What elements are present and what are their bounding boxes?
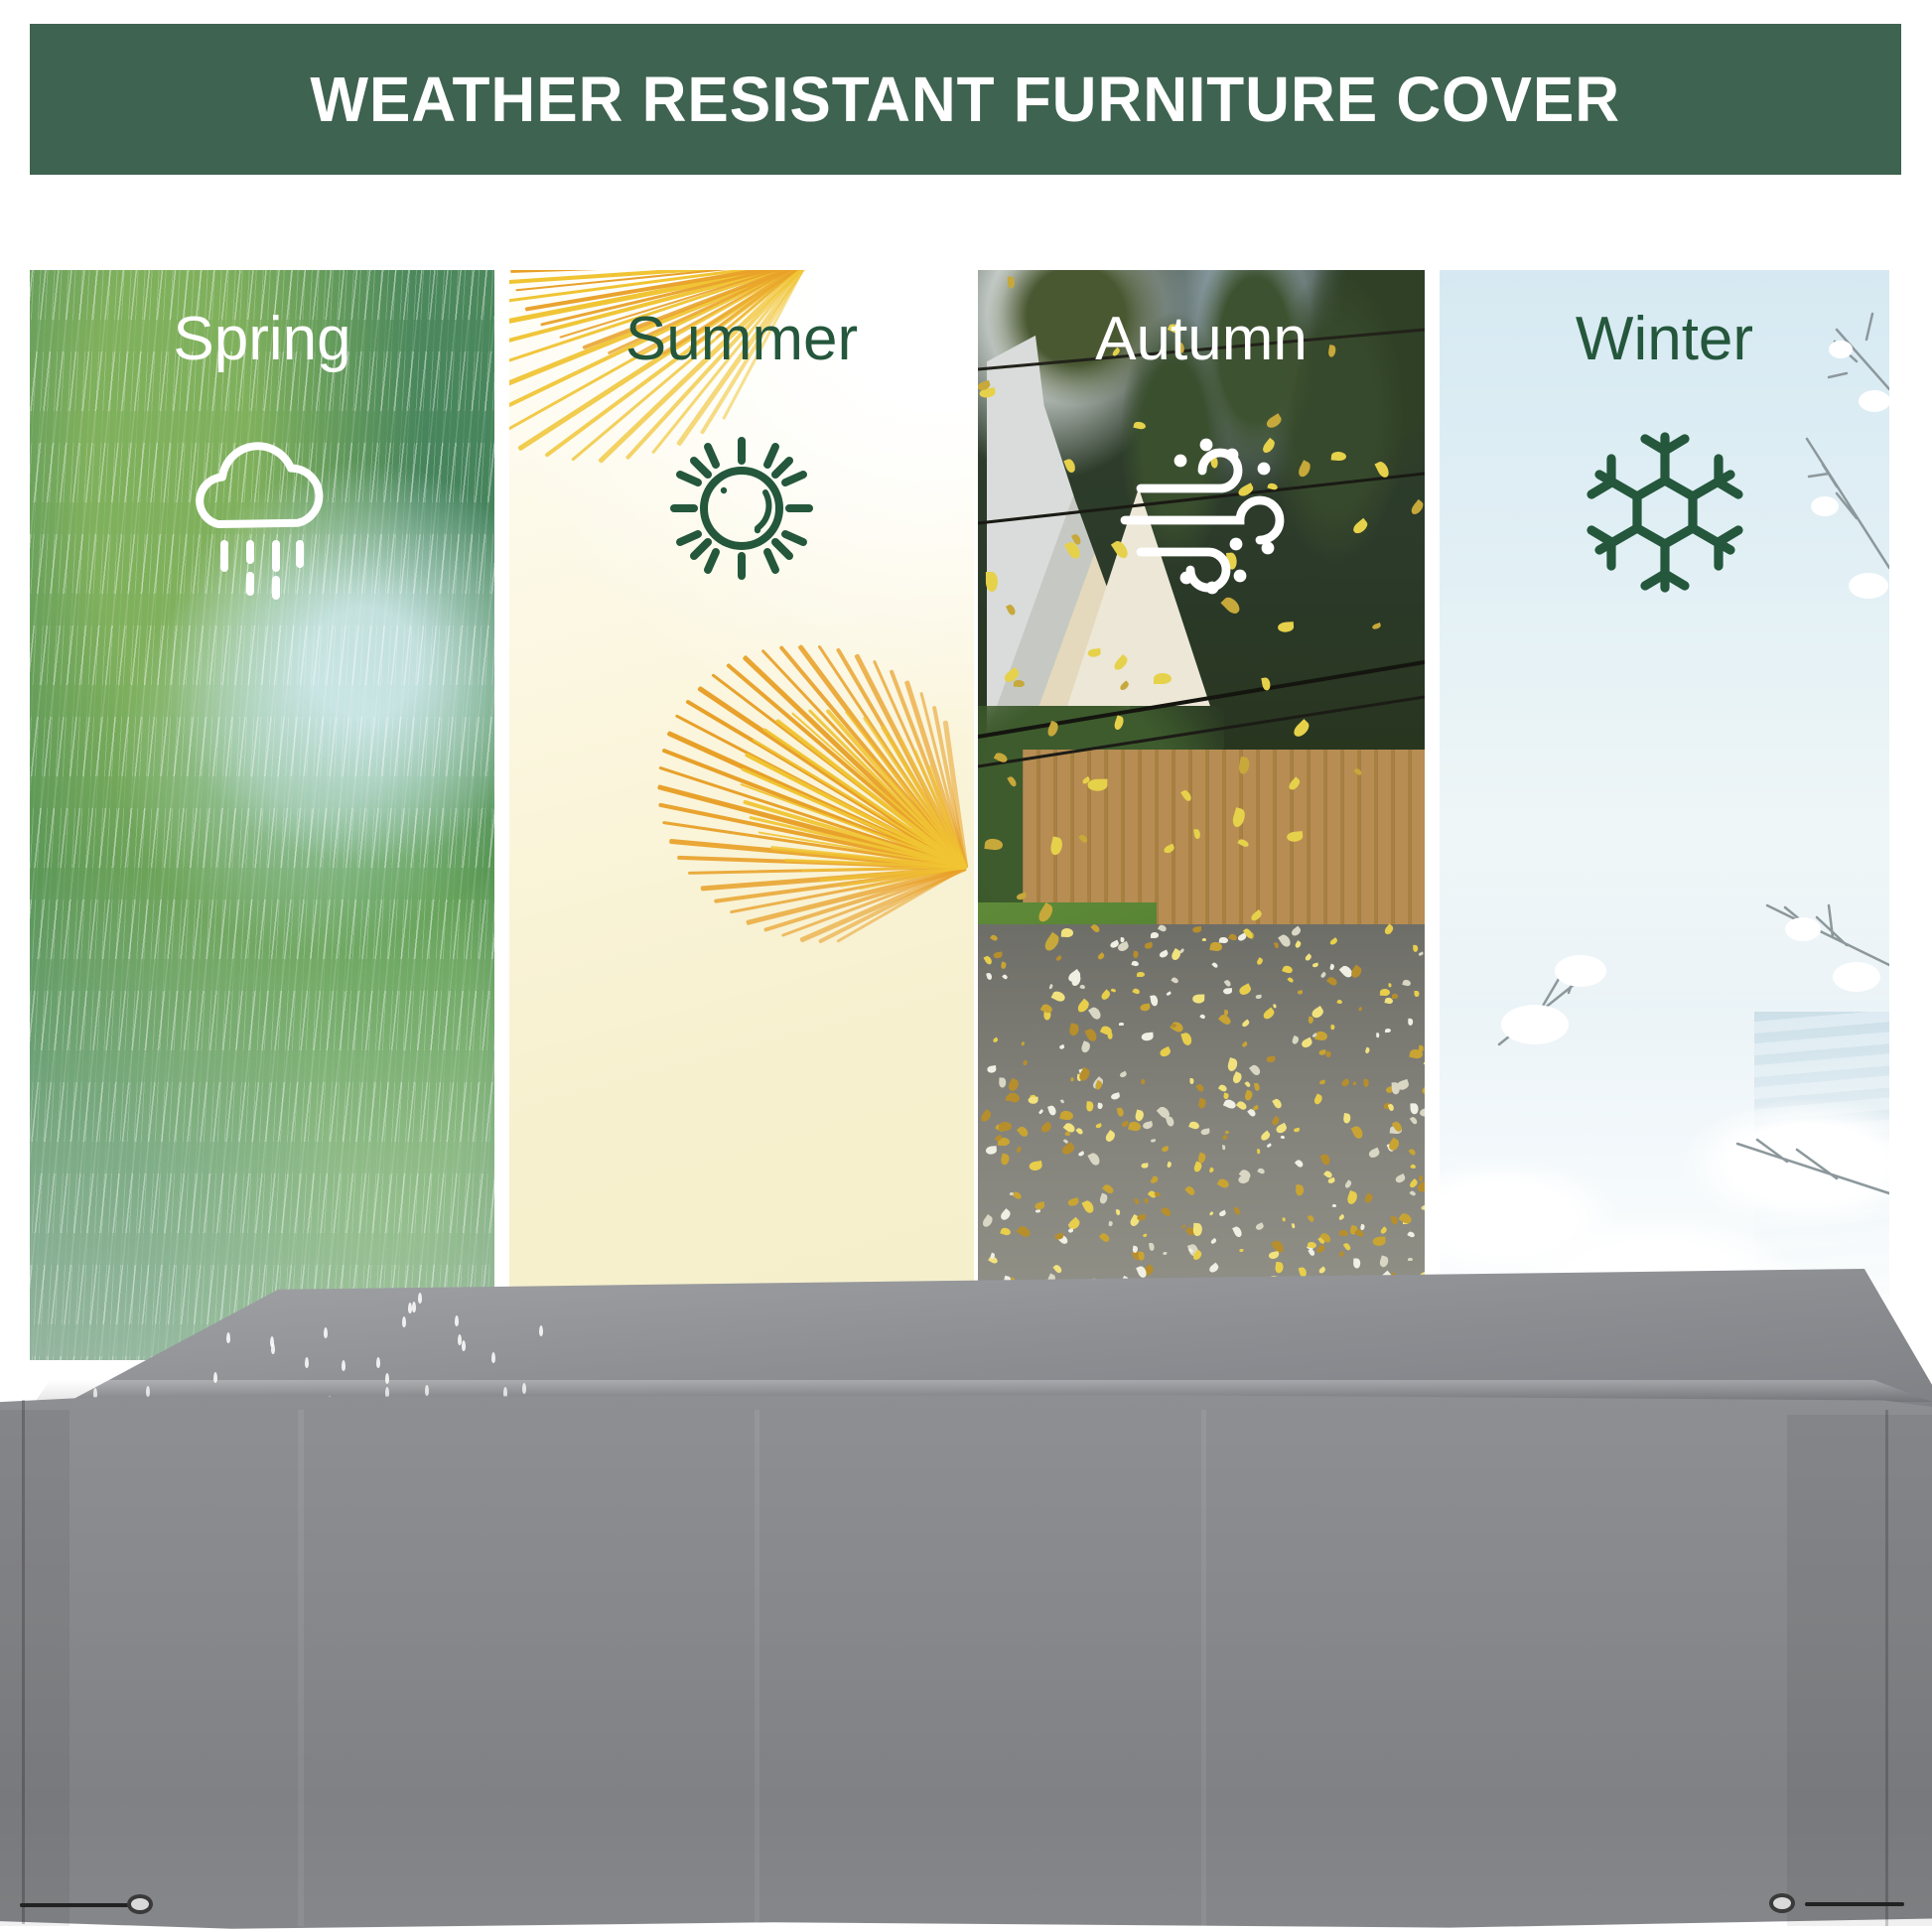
water-droplet — [305, 1357, 309, 1368]
cover-front-panel — [0, 1394, 1932, 1932]
water-droplet — [100, 1301, 104, 1311]
falling-leaf — [1154, 673, 1172, 684]
season-panel-summer: Summer — [509, 270, 974, 1360]
drawstring-cord-right — [1805, 1902, 1904, 1906]
water-droplet — [408, 1303, 412, 1313]
water-droplet — [402, 1316, 406, 1327]
water-droplet — [141, 1336, 145, 1347]
cover-right-edge — [1885, 1410, 1888, 1926]
season-panel-autumn: Autumn — [978, 270, 1425, 1360]
cover-shadow — [1787, 1415, 1932, 1926]
grommet-left — [127, 1894, 153, 1914]
cover-fold — [298, 1410, 304, 1926]
snowflake-icon — [1566, 409, 1764, 613]
page-title: WEATHER RESISTANT FURNITURE COVER — [311, 63, 1621, 136]
furniture-cover — [0, 1261, 1932, 1932]
water-droplet — [412, 1302, 416, 1312]
water-droplet — [539, 1325, 543, 1336]
falling-leaf — [1013, 679, 1025, 687]
falling-leaf — [1007, 276, 1015, 289]
water-droplet — [69, 1336, 72, 1347]
water-droplet — [161, 1320, 165, 1331]
season-label-spring: Spring — [30, 304, 494, 374]
water-droplet — [491, 1352, 495, 1363]
water-droplet — [137, 1338, 141, 1349]
water-droplet — [134, 1319, 138, 1330]
water-droplet — [324, 1327, 328, 1338]
water-droplet — [455, 1315, 459, 1326]
cover-fold — [755, 1410, 759, 1926]
season-label-winter: Winter — [1440, 304, 1889, 374]
water-droplet — [7, 1295, 11, 1306]
water-droplet — [462, 1340, 466, 1351]
cover-shadow — [0, 1410, 69, 1926]
grommet-right — [1769, 1893, 1795, 1913]
palm-frond-bottom-icon — [966, 866, 967, 867]
header-banner: WEATHER RESISTANT FURNITURE COVER — [30, 24, 1901, 175]
wind-icon — [1097, 409, 1306, 613]
water-droplet — [73, 1303, 77, 1313]
water-droplet — [376, 1357, 380, 1368]
cover-left-edge — [22, 1400, 25, 1924]
rain-cloud-icon — [163, 409, 361, 613]
season-label-summer: Summer — [509, 304, 974, 374]
season-label-autumn: Autumn — [978, 304, 1425, 374]
water-droplet — [418, 1293, 422, 1304]
season-panel-spring: Spring — [30, 270, 494, 1360]
water-droplet — [226, 1332, 230, 1343]
water-droplet — [136, 1301, 140, 1311]
cover-fold — [1201, 1410, 1206, 1926]
water-droplet — [52, 1340, 56, 1351]
drawstring-cord-left — [20, 1903, 129, 1907]
water-droplet — [21, 1322, 25, 1333]
season-panel-winter: Winter — [1440, 270, 1889, 1360]
water-droplet — [342, 1360, 345, 1371]
sun-icon — [642, 409, 841, 613]
